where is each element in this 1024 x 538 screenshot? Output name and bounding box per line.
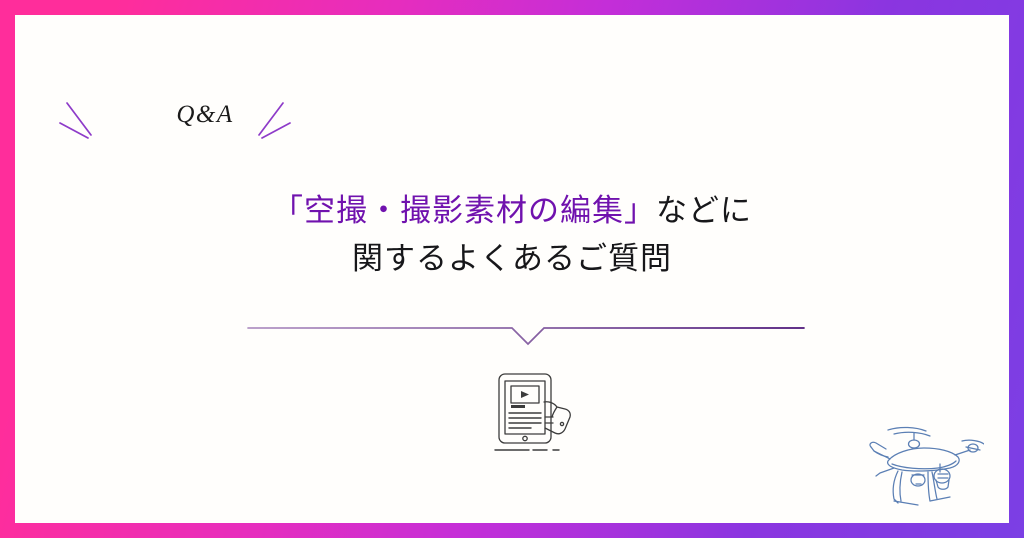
landing-leg-left-inner xyxy=(900,472,902,501)
drone-arm-front-right xyxy=(955,450,970,455)
divider-path xyxy=(248,328,804,344)
slash-decoration-left xyxy=(60,103,91,138)
headline-line-1: 「空撮・撮影素材の編集」などに xyxy=(15,187,1009,235)
landing-skid-right xyxy=(930,497,950,501)
motor-rear-left xyxy=(909,440,920,448)
home-button-icon xyxy=(523,436,527,440)
drone-arm-rear-left xyxy=(876,468,894,476)
drone-body xyxy=(888,448,960,471)
headline-accent-text: 「空撮・撮影素材の編集」 xyxy=(272,193,656,229)
headline-plain-text: などに xyxy=(656,193,752,229)
tablet-video-hand-icon xyxy=(481,365,585,461)
drone-body-seam xyxy=(892,461,956,469)
text-lines xyxy=(509,413,541,428)
slide-inner-area: Q&A 「空撮・撮影素材の編集」などに 関するよくあるご質問 xyxy=(15,15,1009,523)
drone-quadcopter-icon xyxy=(858,417,984,511)
page-title: 「空撮・撮影素材の編集」などに 関するよくあるご質問 xyxy=(15,187,1009,283)
eyebrow-group: Q&A xyxy=(55,91,295,147)
play-triangle-icon xyxy=(521,391,529,398)
tablet-body xyxy=(499,374,551,443)
landing-leg-right xyxy=(928,472,930,501)
hand-icon xyxy=(544,402,570,434)
headline-line-2: 関するよくあるご質問 xyxy=(15,235,1009,283)
slash-decoration-right xyxy=(259,103,290,138)
slide-canvas: Q&A 「空撮・撮影素材の編集」などに 関するよくあるご質問 xyxy=(0,0,1024,538)
eyebrow-label: Q&A xyxy=(150,101,260,129)
propeller-rear-left xyxy=(888,427,926,431)
video-caption-bar xyxy=(511,405,525,408)
notched-divider-line xyxy=(246,313,806,347)
landing-leg-left xyxy=(893,471,898,503)
